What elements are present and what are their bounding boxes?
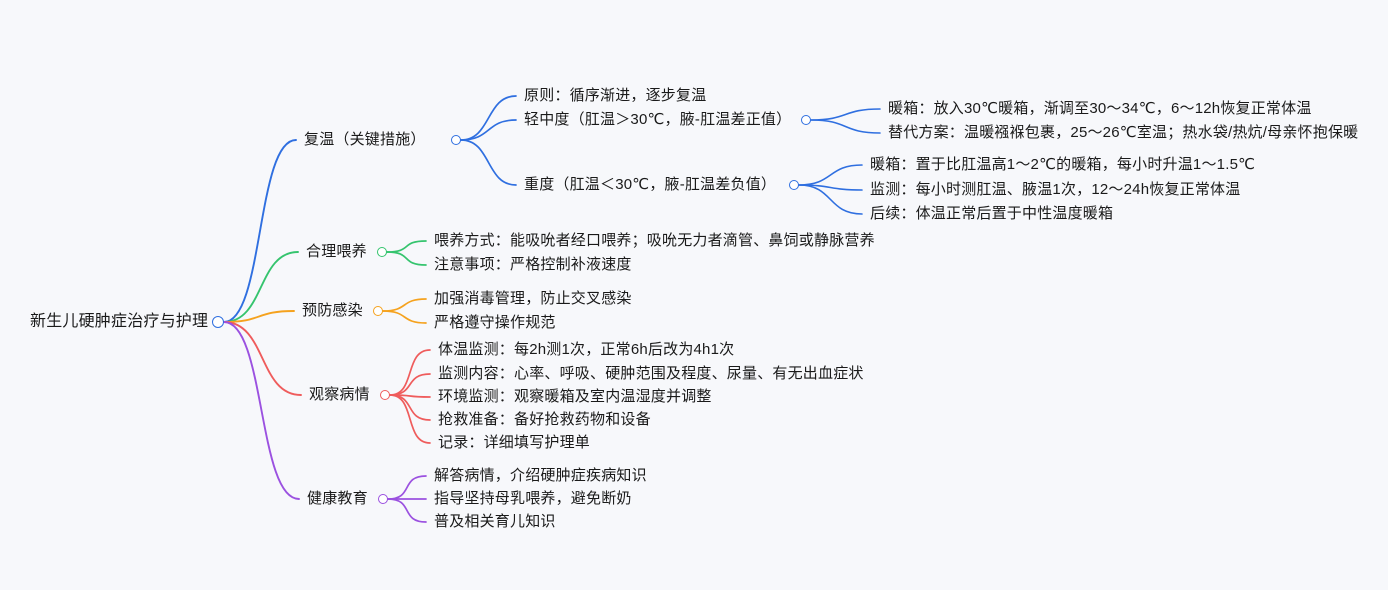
node-label: 监测：每小时测肛温、腋温1次，12～24h恢复正常体温 [870, 182, 1240, 197]
child-node-4-5[interactable]: 记录：详细填写护理单 [438, 435, 590, 450]
branch-node-3[interactable]: 预防感染 [302, 303, 363, 318]
node-label: 严格遵守操作规范 [434, 315, 556, 330]
branch-node-5[interactable]: 健康教育 [307, 491, 368, 506]
child-node-dot-1-2[interactable] [801, 115, 811, 125]
child-node-1-1[interactable]: 原则：循序渐进，逐步复温 [524, 88, 706, 103]
node-label: 普及相关育儿知识 [434, 514, 556, 529]
node-label: 注意事项：严格控制补液速度 [434, 257, 632, 272]
node-label: 预防感染 [302, 303, 363, 318]
node-label: 轻中度（肛温＞30℃，腋-肛温差正值） [524, 112, 791, 127]
node-label: 暖箱：放入30℃暖箱，渐调至30～34℃，6～12h恢复正常体温 [888, 101, 1312, 116]
node-label: 指导坚持母乳喂养，避免断奶 [434, 491, 632, 506]
leaf-node-1-3-2[interactable]: 监测：每小时测肛温、腋温1次，12～24h恢复正常体温 [870, 182, 1240, 197]
node-label: 环境监测：观察暖箱及室内温湿度并调整 [438, 389, 712, 404]
child-node-dot-1-3[interactable] [789, 180, 799, 190]
node-label: 新生儿硬肿症治疗与护理 [30, 314, 208, 330]
branch-node-dot-4[interactable] [380, 390, 390, 400]
branch-node-dot-2[interactable] [377, 247, 387, 257]
child-node-1-2[interactable]: 轻中度（肛温＞30℃，腋-肛温差正值） [524, 112, 791, 127]
branch-node-4[interactable]: 观察病情 [309, 387, 370, 402]
child-node-5-1[interactable]: 解答病情，介绍硬肿症疾病知识 [434, 468, 647, 483]
node-label: 喂养方式：能吸吮者经口喂养；吸吮无力者滴管、鼻饲或静脉营养 [434, 233, 875, 248]
node-label: 重度（肛温＜30℃，腋-肛温差负值） [524, 177, 776, 192]
child-node-2-2[interactable]: 注意事项：严格控制补液速度 [434, 257, 632, 272]
node-label: 记录：详细填写护理单 [438, 435, 590, 450]
branch-node-dot-5[interactable] [378, 494, 388, 504]
node-label: 后续：体温正常后置于中性温度暖箱 [870, 206, 1113, 221]
child-node-4-4[interactable]: 抢救准备：备好抢救药物和设备 [438, 412, 651, 427]
node-label: 抢救准备：备好抢救药物和设备 [438, 412, 651, 427]
child-node-1-3[interactable]: 重度（肛温＜30℃，腋-肛温差负值） [524, 177, 776, 192]
child-node-5-3[interactable]: 普及相关育儿知识 [434, 514, 556, 529]
node-label: 替代方案：温暖襁褓包裹，25～26℃室温；热水袋/热炕/母亲怀抱保暖 [888, 125, 1358, 140]
root-node[interactable]: 新生儿硬肿症治疗与护理 [30, 314, 208, 330]
child-node-4-3[interactable]: 环境监测：观察暖箱及室内温湿度并调整 [438, 389, 712, 404]
node-label: 加强消毒管理，防止交叉感染 [434, 291, 632, 306]
node-label: 原则：循序渐进，逐步复温 [524, 88, 706, 103]
leaf-node-1-2-1[interactable]: 暖箱：放入30℃暖箱，渐调至30～34℃，6～12h恢复正常体温 [888, 101, 1312, 116]
child-node-4-1[interactable]: 体温监测：每2h测1次，正常6h后改为4h1次 [438, 342, 734, 357]
leaf-node-1-3-3[interactable]: 后续：体温正常后置于中性温度暖箱 [870, 206, 1113, 221]
mindmap-canvas: 新生儿硬肿症治疗与护理复温（关键措施）原则：循序渐进，逐步复温轻中度（肛温＞30… [0, 0, 1388, 590]
node-label: 健康教育 [307, 491, 368, 506]
child-node-3-2[interactable]: 严格遵守操作规范 [434, 315, 556, 330]
child-node-5-2[interactable]: 指导坚持母乳喂养，避免断奶 [434, 491, 632, 506]
node-label: 体温监测：每2h测1次，正常6h后改为4h1次 [438, 342, 734, 357]
node-label: 合理喂养 [306, 244, 367, 259]
child-node-2-1[interactable]: 喂养方式：能吸吮者经口喂养；吸吮无力者滴管、鼻饲或静脉营养 [434, 233, 875, 248]
leaf-node-1-2-2[interactable]: 替代方案：温暖襁褓包裹，25～26℃室温；热水袋/热炕/母亲怀抱保暖 [888, 125, 1358, 140]
node-label: 监测内容：心率、呼吸、硬肿范围及程度、尿量、有无出血症状 [438, 366, 864, 381]
branch-node-dot-3[interactable] [373, 306, 383, 316]
node-label: 暖箱：置于比肛温高1～2℃的暖箱，每小时升温1～1.5℃ [870, 157, 1255, 172]
child-node-4-2[interactable]: 监测内容：心率、呼吸、硬肿范围及程度、尿量、有无出血症状 [438, 366, 864, 381]
node-label: 观察病情 [309, 387, 370, 402]
branch-node-2[interactable]: 合理喂养 [306, 244, 367, 259]
root-node-dot[interactable] [212, 316, 224, 328]
child-node-3-1[interactable]: 加强消毒管理，防止交叉感染 [434, 291, 632, 306]
leaf-node-1-3-1[interactable]: 暖箱：置于比肛温高1～2℃的暖箱，每小时升温1～1.5℃ [870, 157, 1255, 172]
node-label: 复温（关键措施） [304, 132, 426, 147]
node-label: 解答病情，介绍硬肿症疾病知识 [434, 468, 647, 483]
branch-node-dot-1[interactable] [451, 135, 461, 145]
branch-node-1[interactable]: 复温（关键措施） [304, 132, 426, 147]
